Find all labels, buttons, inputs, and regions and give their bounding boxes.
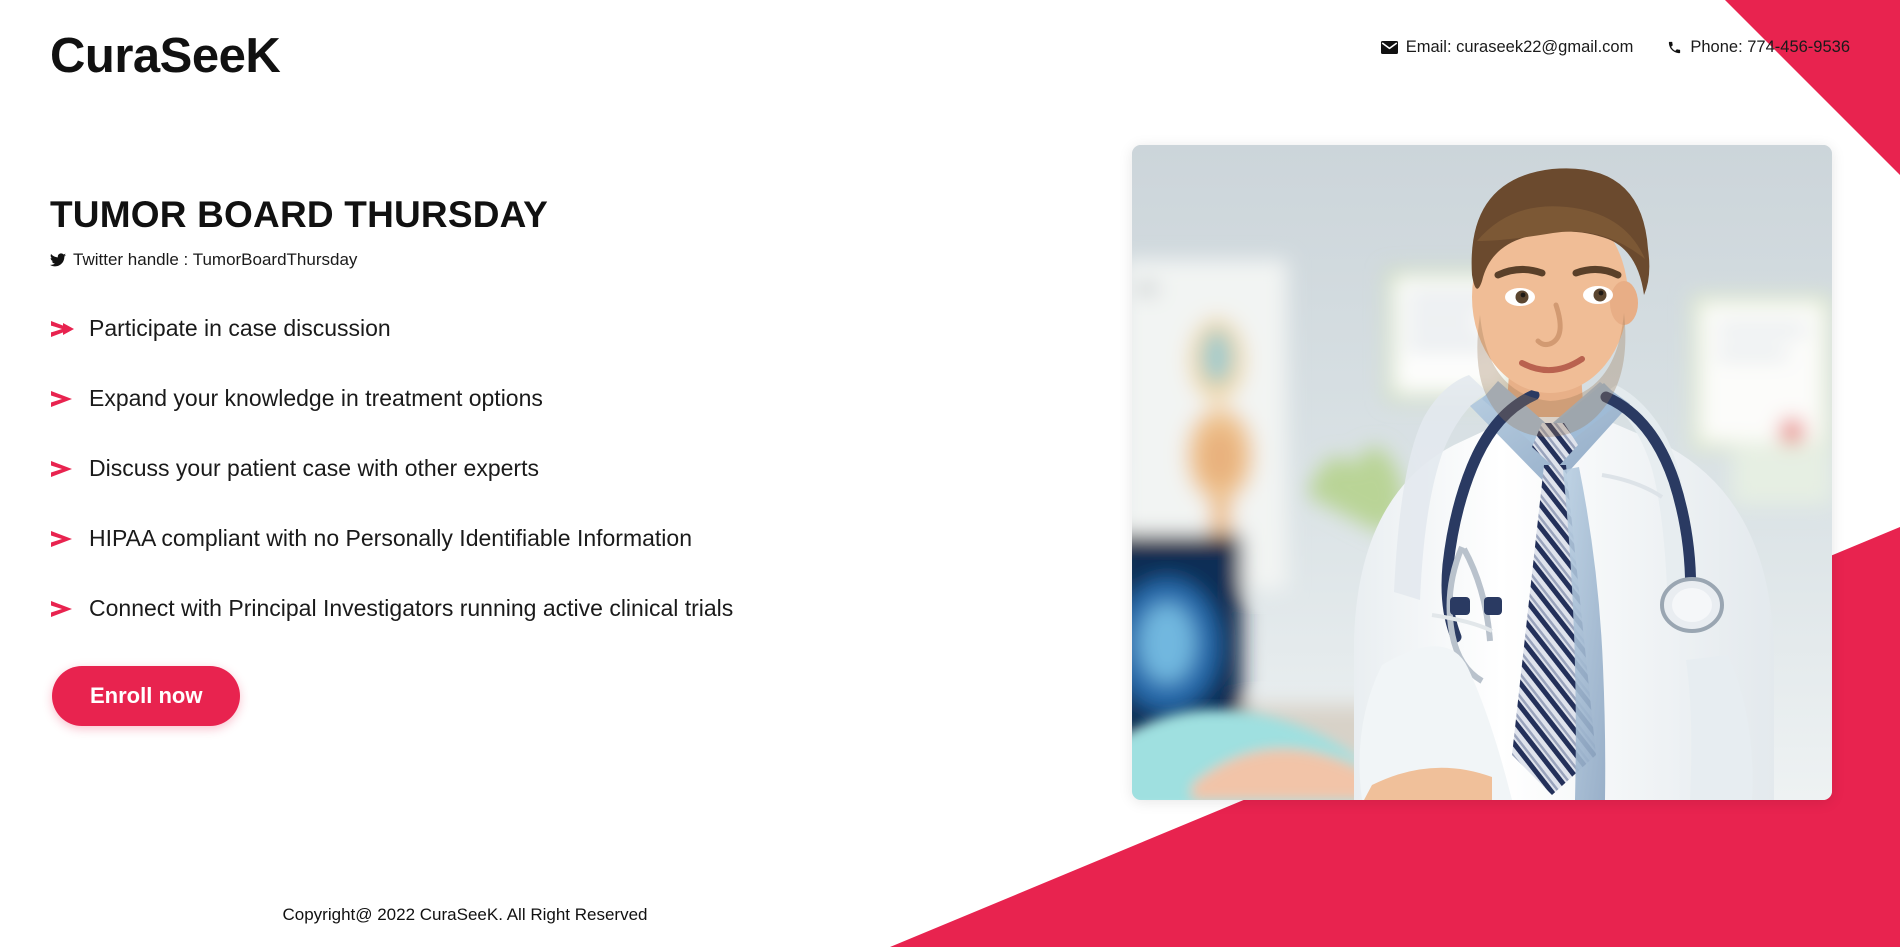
page-title: TUMOR BOARD THURSDAY	[50, 195, 1050, 236]
arrow-right-icon	[50, 459, 76, 479]
feature-list: Participate in case discussion Expand yo…	[50, 294, 1050, 644]
enroll-now-button[interactable]: Enroll now	[52, 666, 240, 726]
arrow-right-icon	[50, 319, 76, 339]
twitter-bird-icon	[50, 253, 66, 267]
contact-bar: Email: curaseek22@gmail.com Phone: 774-4…	[1381, 38, 1850, 57]
envelope-icon	[1381, 41, 1398, 54]
arrow-right-icon	[50, 599, 76, 619]
list-item-label: HIPAA compliant with no Personally Ident…	[89, 525, 692, 553]
contact-phone[interactable]: Phone: 774-456-9536	[1667, 38, 1850, 57]
brand-logo[interactable]: CuraSeeK	[50, 28, 280, 84]
list-item: Participate in case discussion	[50, 294, 1050, 364]
contact-email-label: Email: curaseek22@gmail.com	[1406, 38, 1634, 57]
list-item-label: Expand your knowledge in treatment optio…	[89, 385, 543, 413]
list-item: Connect with Principal Investigators run…	[50, 574, 1050, 644]
list-item-label: Participate in case discussion	[89, 315, 391, 343]
list-item: HIPAA compliant with no Personally Ident…	[50, 504, 1050, 574]
hero-content: TUMOR BOARD THURSDAY Twitter handle : Tu…	[50, 195, 1050, 726]
twitter-handle[interactable]: Twitter handle : TumorBoardThursday	[50, 250, 1050, 270]
contact-email[interactable]: Email: curaseek22@gmail.com	[1381, 38, 1634, 57]
arrow-right-icon	[50, 389, 76, 409]
contact-phone-label: Phone: 774-456-9536	[1690, 38, 1850, 57]
landing-page: CuraSeeK Email: curaseek22@gmail.com Pho…	[0, 0, 1900, 947]
arrow-right-icon	[50, 529, 76, 549]
phone-icon	[1667, 40, 1682, 55]
twitter-handle-label: Twitter handle : TumorBoardThursday	[73, 250, 357, 270]
list-item-label: Connect with Principal Investigators run…	[89, 595, 733, 623]
list-item-label: Discuss your patient case with other exp…	[89, 455, 539, 483]
footer-copyright: Copyright@ 2022 CuraSeeK. All Right Rese…	[0, 905, 930, 925]
list-item: Expand your knowledge in treatment optio…	[50, 364, 1050, 434]
list-item: Discuss your patient case with other exp…	[50, 434, 1050, 504]
doctor-photo	[1132, 145, 1832, 800]
doctor-photo-illustration	[1132, 145, 1832, 800]
